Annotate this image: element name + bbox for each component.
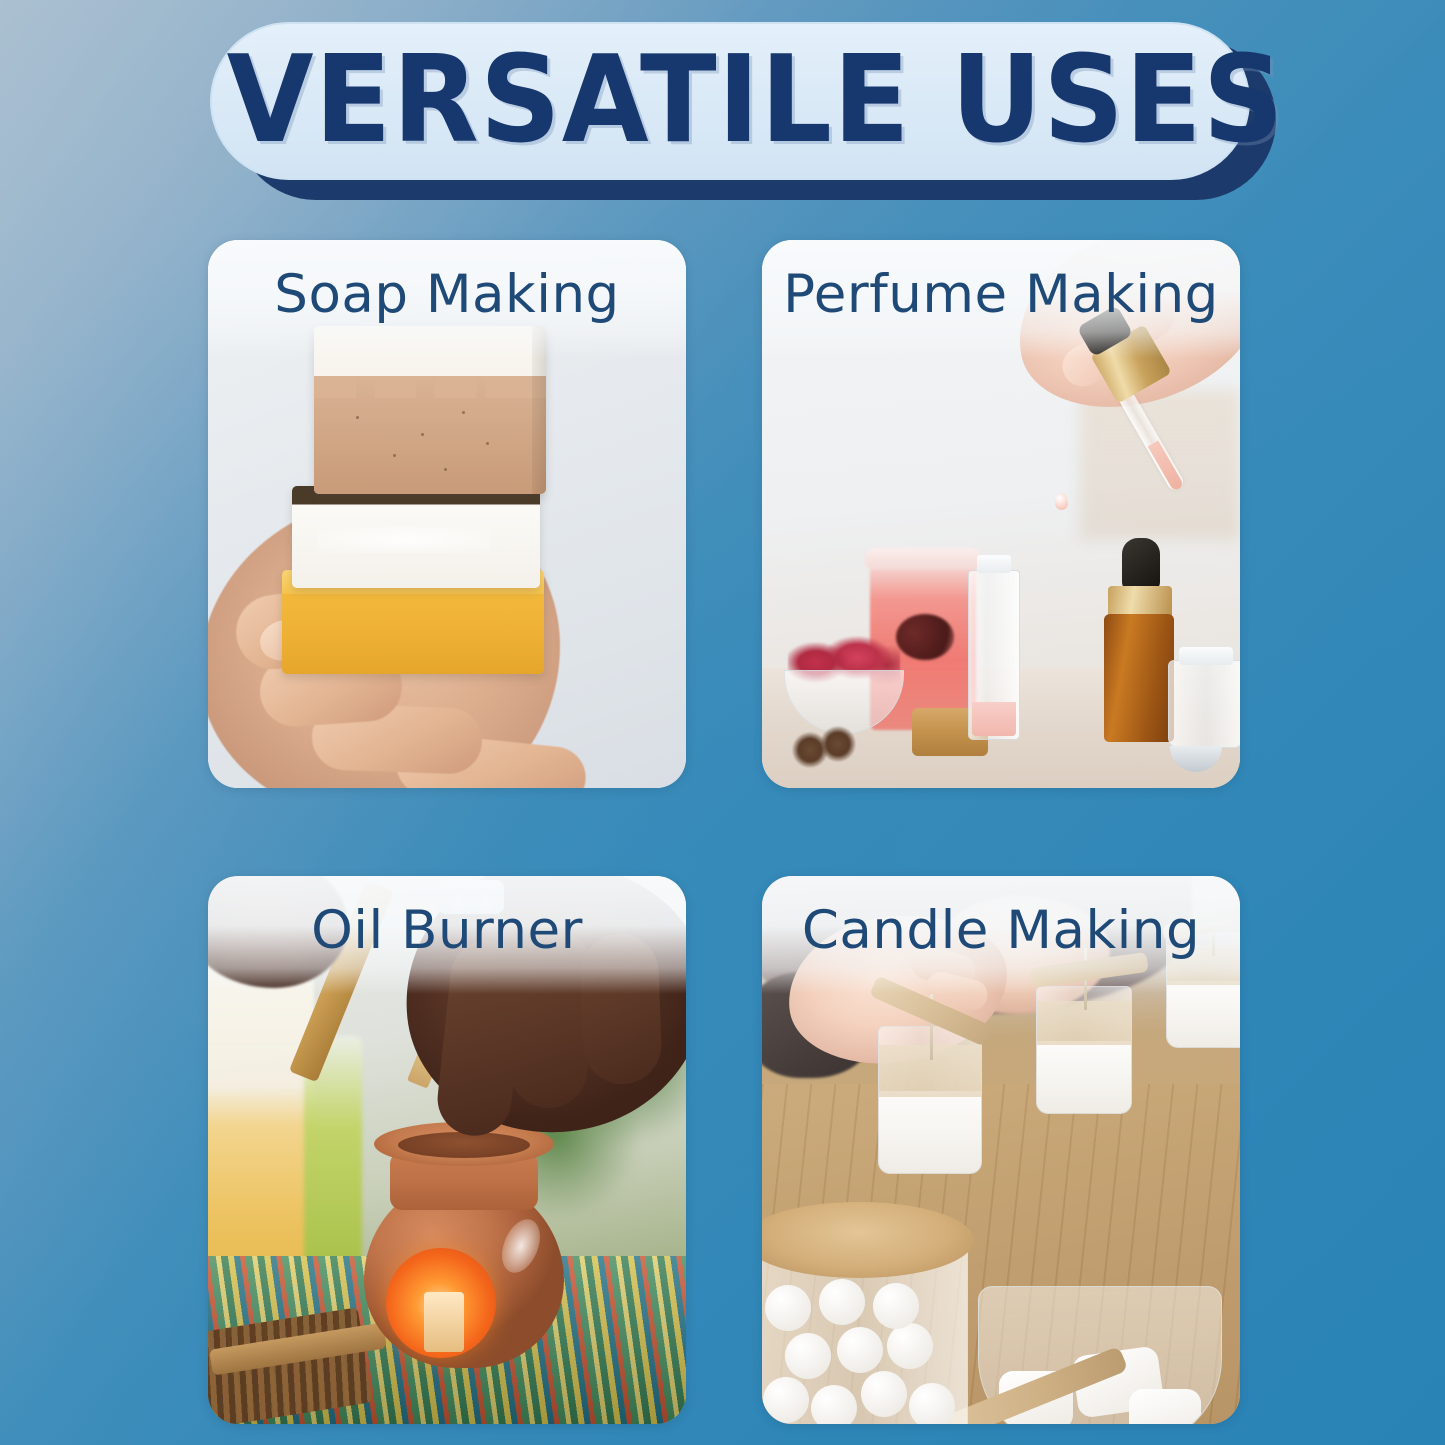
use-card-label-candle-making: Candle Making <box>762 876 1240 994</box>
use-card-candle-making[interactable]: Candle Making <box>762 876 1240 1424</box>
perfume-oil-droplet <box>1055 493 1068 510</box>
perfume-clear-jar <box>1168 660 1240 748</box>
soap-bar-white-sheen <box>317 527 491 554</box>
uses-grid: Soap Making <box>208 240 1240 1424</box>
use-card-soap-making[interactable]: Soap Making <box>208 240 686 788</box>
perfume-amber-bottle-bulb <box>1122 538 1160 592</box>
page-title: VERSATILE USES <box>227 41 1285 161</box>
use-card-label-perfume-making: Perfume Making <box>762 240 1240 358</box>
use-card-label-oil-burner: Oil Burner <box>208 876 686 994</box>
soap-speck <box>462 411 465 414</box>
candle-jar-1-wax <box>879 1091 981 1173</box>
title-banner: VERSATILE USES <box>210 22 1276 200</box>
soap-speck <box>393 454 396 457</box>
soap-bar-white <box>292 486 540 588</box>
perfume-jar-berries <box>896 614 954 660</box>
soap-speck <box>486 442 489 445</box>
use-card-label-soap-making: Soap Making <box>208 240 686 358</box>
perfume-amber-bottle <box>1104 614 1174 742</box>
soap-speck <box>356 416 359 419</box>
candle-wax-ball <box>837 1327 883 1373</box>
candle-wax-ball <box>811 1385 857 1424</box>
perfume-sample-vial <box>968 570 1020 740</box>
soap-speck <box>421 433 424 436</box>
candle-wax-ball <box>873 1283 919 1329</box>
candle-wax-ball <box>861 1371 907 1417</box>
candle-wax-ball <box>909 1383 955 1424</box>
candle-wax-ball <box>765 1285 811 1331</box>
candle-wax-ball <box>763 1377 809 1423</box>
soap-bar-tan-body <box>314 376 546 494</box>
candle-jar-2-wax <box>1037 1041 1131 1113</box>
candle-wax-ball <box>785 1333 831 1379</box>
candle-wax-ball <box>819 1279 865 1325</box>
use-card-oil-burner[interactable]: Oil Burner <box>208 876 686 1424</box>
soap-bar-tan-wave <box>314 376 546 398</box>
title-banner-pill: VERSATILE USES <box>210 22 1250 180</box>
soap-speck <box>444 468 447 471</box>
perfume-star-anise <box>820 726 856 762</box>
candle-wax-ball <box>887 1323 933 1369</box>
oil-burner-tealight-candle <box>424 1292 464 1352</box>
oil-burner-oil-bottle <box>208 954 314 1284</box>
use-card-perfume-making[interactable]: Perfume Making <box>762 240 1240 788</box>
candle-wax-chunk <box>1129 1389 1201 1424</box>
